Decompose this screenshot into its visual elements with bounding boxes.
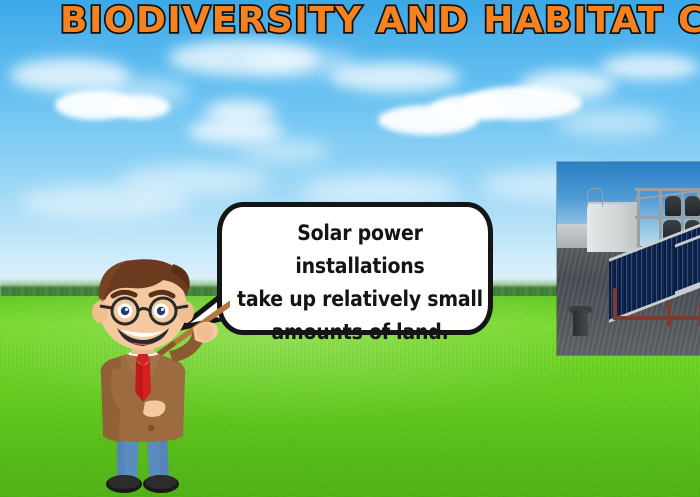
photo-far-building — [557, 224, 591, 248]
slide-canvas: BIODIVERSITY AND HABITAT CONSERV — [0, 0, 700, 497]
collector-base-rail — [613, 316, 700, 320]
cloud-5 — [110, 95, 170, 119]
cloud-14 — [556, 108, 666, 136]
photo-roof-vent — [573, 310, 588, 336]
collector-leg-2 — [667, 300, 671, 326]
cloud-20 — [240, 140, 330, 162]
speech-line-3: amounts of land. — [230, 316, 490, 349]
photo-tank-1 — [665, 196, 681, 216]
ear-right — [178, 301, 194, 323]
title-banner: BIODIVERSITY AND HABITAT CONSERV — [0, 0, 700, 44]
cloud-9 — [330, 62, 460, 92]
cloud-13 — [520, 70, 615, 100]
evacuated-tube-panel-2 — [675, 227, 700, 294]
photo-beam-mid — [635, 216, 700, 219]
page-title-text: BIODIVERSITY AND HABITAT CONSERV — [60, 0, 700, 41]
photo-tank-2 — [685, 196, 700, 216]
jacket-button-2 — [148, 425, 154, 431]
speech-line-1: Solar power installations — [230, 217, 490, 283]
cartoon-teacher — [55, 256, 230, 497]
speech-line-2: take up relatively small — [230, 283, 490, 316]
solar-collector-secondary — [675, 236, 700, 282]
speech-bubble: Solar power installations take up relati… — [217, 202, 493, 335]
solar-panel-photo — [557, 162, 700, 355]
photo-ladder-rail — [587, 188, 603, 207]
cloud-17 — [20, 185, 190, 219]
page-title: BIODIVERSITY AND HABITAT CONSERV — [60, 1, 700, 41]
cloud-15 — [600, 54, 700, 80]
ear-left — [92, 301, 108, 323]
speech-bubble-text: Solar power installations take up relati… — [222, 217, 498, 349]
